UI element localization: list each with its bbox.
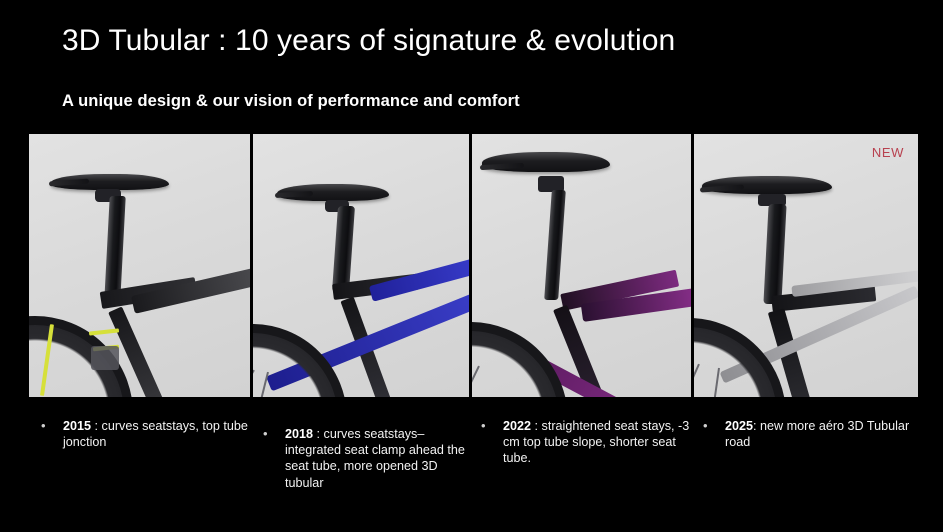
caption-text: 2015 : curves seatstays, top tube joncti… [52, 418, 256, 450]
bullet-icon: • [481, 418, 492, 434]
caption-year: 2022 [503, 419, 531, 433]
caption-separator: : [753, 419, 760, 433]
photo-strip: NEW [29, 134, 918, 397]
caption-row: • 2015 : curves seatstays, top tube jonc… [0, 416, 943, 526]
caption-item-2025: • 2025: new more aéro 3D Tubular road [703, 418, 918, 450]
bike-panel-2018[interactable] [253, 134, 470, 397]
bullet-icon: • [41, 418, 52, 434]
caption-year: 2025 [725, 419, 753, 433]
caption-year: 2015 [63, 419, 91, 433]
caption-item-2015: • 2015 : curves seatstays, top tube jonc… [41, 418, 256, 450]
slide-root: 3D Tubular : 10 years of signature & evo… [0, 0, 943, 532]
brake-caliper-icon [91, 346, 119, 370]
page-subtitle: A unique design & our vision of performa… [62, 92, 520, 111]
bike-panel-2022[interactable] [472, 134, 691, 397]
caption-separator: : [91, 419, 102, 433]
bike-panel-2015[interactable] [29, 134, 250, 397]
bullet-icon: • [703, 418, 714, 434]
bike-panel-2025[interactable]: NEW [694, 134, 918, 397]
caption-year: 2018 [285, 427, 313, 441]
new-badge: NEW [872, 145, 904, 160]
bullet-icon: • [263, 426, 274, 442]
caption-text: 2018 : curves seatstays–integrated seat … [274, 426, 468, 491]
caption-text: 2022 : straightened seat stays, -3 cm to… [492, 418, 696, 467]
caption-separator: : [531, 419, 542, 433]
page-title: 3D Tubular : 10 years of signature & evo… [62, 24, 675, 58]
caption-item-2018: • 2018 : curves seatstays–integrated sea… [263, 426, 468, 491]
caption-item-2022: • 2022 : straightened seat stays, -3 cm … [481, 418, 696, 467]
caption-separator: : [313, 427, 324, 441]
caption-text: 2025: new more aéro 3D Tubular road [714, 418, 918, 450]
